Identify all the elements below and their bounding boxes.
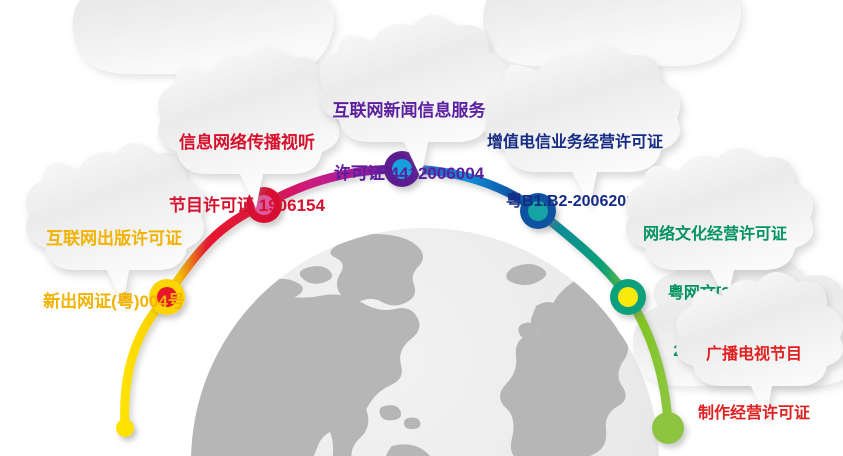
arc-end-dot-left	[116, 419, 134, 437]
infographic-canvas: 互联网出版许可证 新出网证(粤)004号 信息网络传播视听	[0, 0, 843, 456]
bubble-radio-tv-production[interactable]: 广播电视节目 制作经营许可证 （粤） 字第01775号	[664, 276, 843, 436]
